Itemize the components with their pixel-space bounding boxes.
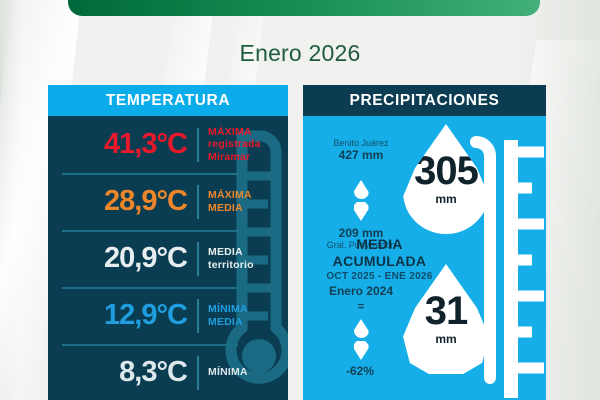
temperature-row-divider (197, 242, 199, 276)
temperature-row: 20,9°CMEDIAterritorio (48, 230, 288, 287)
temperature-value: 8,3°C (62, 356, 187, 389)
water-drop-up-icon (354, 319, 369, 338)
temperature-row-divider (197, 185, 199, 219)
accumulated-range-drops (350, 180, 372, 221)
temperature-value: 20,9°C (62, 242, 187, 275)
water-drop-up-icon (354, 180, 369, 199)
temperature-panel: TEMPERATURA 41,3°CMÁXIMAregistradaMirama… (48, 85, 288, 400)
water-drop-down-icon (354, 202, 369, 221)
temperature-label-line: MEDIA (208, 246, 254, 259)
temperature-label: MÍNIMAMEDIA (208, 303, 248, 328)
precipitation-panel-body: Benito Juárez 427 mm 209 mm Gral. Pueyrr… (303, 116, 546, 400)
month-compare-label: Enero 2024 = (311, 284, 411, 313)
temperature-label-line: territorio (208, 259, 254, 272)
temperature-row: 28,9°CMÁXIMAMEDIA (48, 173, 288, 230)
temperature-label: MÍNIMA (208, 366, 248, 379)
temperature-row: 41,3°CMÁXIMAregistradaMiramar (48, 116, 288, 173)
precipitation-panel: PRECIPITACIONES Benito Juárez 427 mm (303, 85, 546, 400)
month-change-drops (350, 319, 372, 360)
temperature-label: MÁXIMAMEDIA (208, 189, 252, 214)
accumulated-caption-line1: MEDIA (303, 236, 501, 252)
temperature-label-line: MÍNIMA (208, 303, 248, 316)
temperature-row-divider (197, 299, 199, 333)
temperature-label: MÁXIMAregistradaMiramar (208, 126, 261, 164)
temperature-label-line: MÍNIMA (208, 366, 248, 379)
temperature-value: 28,9°C (62, 185, 187, 218)
temperature-row: 8,3°CMÍNIMA (48, 344, 288, 400)
precipitation-panel-header: PRECIPITACIONES (303, 85, 546, 116)
water-drop-down-icon (354, 341, 369, 360)
temperature-row-list: 41,3°CMÁXIMAregistradaMiramar28,9°CMÁXIM… (48, 116, 288, 400)
month-delta-value: -62% (317, 364, 403, 378)
temperature-label-line: MÁXIMA (208, 189, 252, 202)
temperature-label-line: Miramar (208, 151, 261, 164)
temperature-row: 12,9°CMÍNIMAMEDIA (48, 287, 288, 344)
temperature-value: 41,3°C (62, 128, 187, 161)
temperature-panel-body: 41,3°CMÁXIMAregistradaMiramar28,9°CMÁXIM… (48, 116, 288, 400)
temperature-row-divider (197, 356, 199, 390)
temperature-label-line: MEDIA (208, 202, 252, 215)
temperature-label-line: MÁXIMA (208, 126, 261, 139)
temperature-label-line: MEDIA (208, 316, 248, 329)
temperature-row-divider (197, 128, 199, 162)
temperature-label: MEDIAterritorio (208, 246, 254, 271)
accumulated-caption-period: OCT 2025 - ENE 2026 (303, 271, 501, 282)
temperature-panel-header: TEMPERATURA (48, 85, 288, 116)
accumulated-caption-line2: ACUMULADA (303, 253, 501, 269)
top-green-bar (68, 0, 540, 16)
accumulated-max-station: Benito Juárez 427 mm (309, 138, 413, 162)
temperature-value: 12,9°C (62, 299, 187, 332)
temperature-label-line: registrada (208, 138, 261, 151)
page-title: Enero 2026 (0, 40, 600, 67)
